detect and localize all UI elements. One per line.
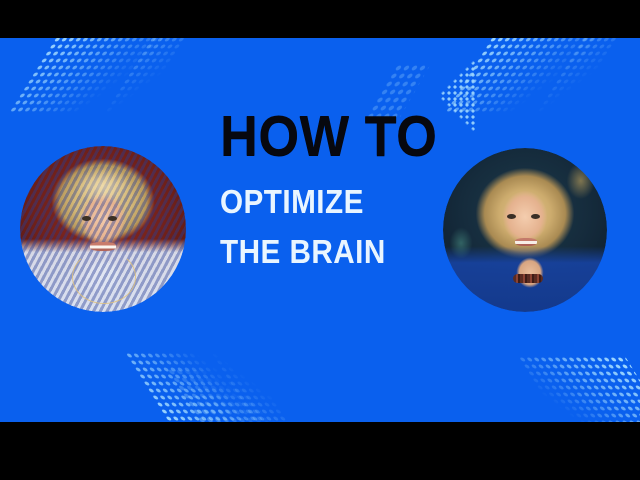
portrait-photo-right xyxy=(443,148,607,312)
headline-line-how-to: HOW TO xyxy=(220,108,413,165)
halftone-dots-top-right-icon xyxy=(454,38,624,143)
video-thumbnail-stage: HOW TO OPTIMIZE THE BRAIN xyxy=(0,0,640,480)
headline-line-the-brain: THE BRAIN xyxy=(220,235,409,268)
halftone-dots-bottom-right-icon xyxy=(510,330,640,422)
headline-block: HOW TO OPTIMIZE THE BRAIN xyxy=(220,108,430,268)
halftone-dots-bottom-center-icon xyxy=(186,352,282,422)
halftone-dots-bottom-left-icon xyxy=(150,326,290,422)
portrait-photo-left xyxy=(20,146,186,312)
portrait-left-image xyxy=(20,146,186,312)
letterbox-bar-bottom xyxy=(0,422,640,480)
thumbnail-canvas: HOW TO OPTIMIZE THE BRAIN xyxy=(0,38,640,422)
headline-line-optimize: OPTIMIZE xyxy=(220,185,409,218)
portrait-right-image xyxy=(443,148,607,312)
letterbox-bar-top xyxy=(0,0,640,38)
halftone-dots-top-left-icon xyxy=(28,38,198,143)
